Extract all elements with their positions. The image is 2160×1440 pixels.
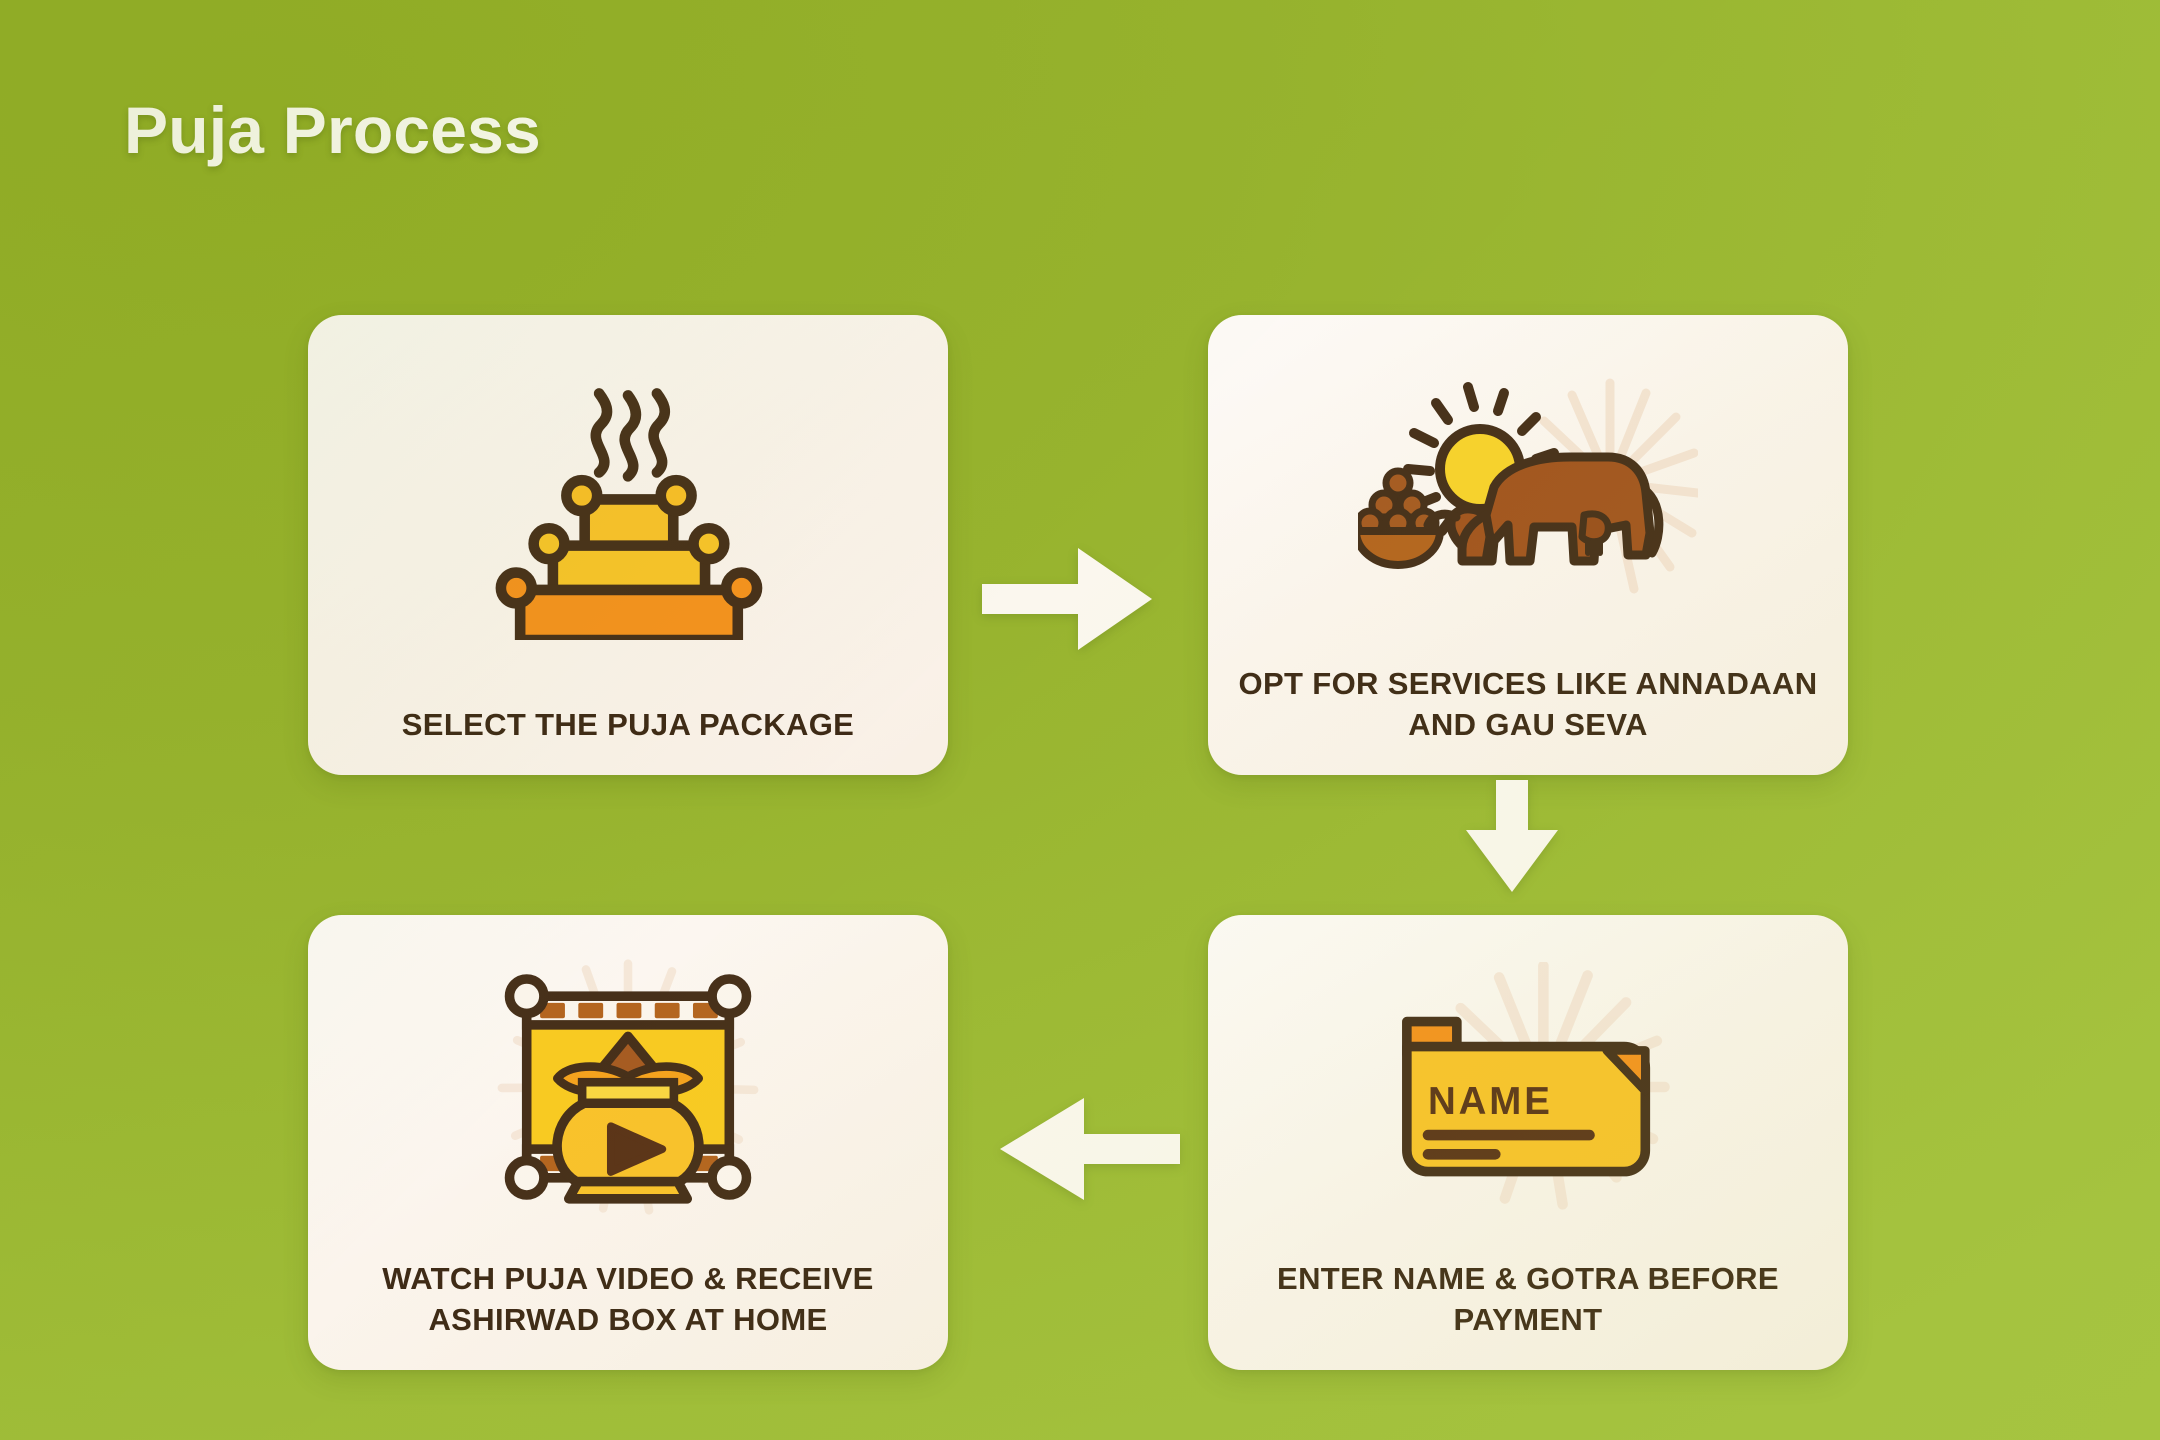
step-card-enter-name-gotra[interactable]: NAME ENTER NAME & GOTRA BEFORE PAYMENT <box>1208 915 1848 1370</box>
step-card-opt-for-services[interactable]: OPT FOR SERVICES LIKE ANNADAAN AND GAU S… <box>1208 315 1848 775</box>
arrow-down-icon <box>1462 780 1562 892</box>
puja-process-infographic: Puja Process <box>0 0 2160 1440</box>
step-card-select-puja-package[interactable]: SELECT THE PUJA PACKAGE <box>308 315 948 775</box>
puja-altar-icon <box>308 315 948 705</box>
arrow-right-icon <box>982 540 1152 658</box>
name-card-text: NAME <box>1428 1080 1553 1123</box>
puja-video-kalash-icon <box>308 915 948 1259</box>
step-card-label: SELECT THE PUJA PACKAGE <box>334 705 923 775</box>
step-card-label: ENTER NAME & GOTRA BEFORE PAYMENT <box>1234 1259 1823 1370</box>
page-title: Puja Process <box>124 92 541 168</box>
step-card-watch-puja-video[interactable]: WATCH PUJA VIDEO & RECEIVE ASHIRWAD BOX … <box>308 915 948 1370</box>
gau-seva-cow-icon <box>1208 315 1848 664</box>
name-card-icon: NAME <box>1208 915 1848 1259</box>
arrow-left-icon <box>1000 1090 1180 1208</box>
step-card-label: OPT FOR SERVICES LIKE ANNADAAN AND GAU S… <box>1234 664 1823 775</box>
step-card-label: WATCH PUJA VIDEO & RECEIVE ASHIRWAD BOX … <box>334 1259 923 1370</box>
